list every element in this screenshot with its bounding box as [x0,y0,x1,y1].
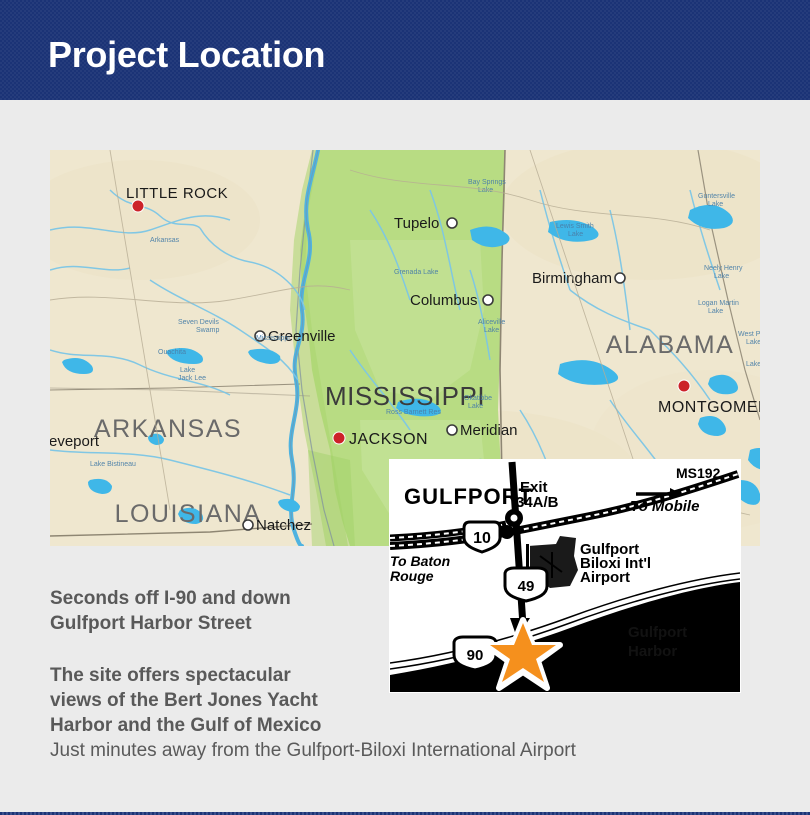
svg-text:Lake Bistineau: Lake Bistineau [90,461,136,468]
caption-paragraph-2: The site offers spectacular views of the… [50,663,750,763]
caption-line-1: Seconds off I-90 and down [50,586,750,611]
svg-text:Natchez: Natchez [256,517,311,534]
svg-text:Mississippi: Mississippi [256,335,290,342]
caption-line-5: Harbor and the Gulf of Mexico [50,713,750,738]
svg-text:Aliceville: Aliceville [478,319,505,326]
svg-text:MS192: MS192 [676,465,721,481]
caption-line-6: Just minutes away from the Gulfport-Bilo… [50,738,750,763]
svg-text:Lake: Lake [484,327,499,334]
svg-text:Ouachita: Ouachita [158,349,186,356]
svg-text:West Point: West Point [738,331,760,338]
svg-text:Ross Barnett Res: Ross Barnett Res [386,409,441,416]
caption-line-4: views of the Bert Jones Yacht [50,688,750,713]
svg-text:Rouge: Rouge [390,568,434,584]
svg-text:LITTLE ROCK: LITTLE ROCK [126,185,228,202]
svg-text:LOUISIANA: LOUISIANA [115,500,262,528]
svg-text:Airport: Airport [580,569,630,586]
svg-text:Lake: Lake [708,308,723,315]
svg-text:Meridian: Meridian [460,422,518,439]
svg-text:Seven Devils: Seven Devils [178,319,219,326]
caption-line-3: The site offers spectacular [50,663,750,688]
svg-text:To Mobile: To Mobile [630,498,699,515]
svg-text:Grenada Lake: Grenada Lake [394,269,438,276]
svg-text:Lewis Smith: Lewis Smith [556,223,594,230]
svg-text:Logan Martin: Logan Martin [698,300,739,307]
page-title: Project Location [48,33,325,77]
svg-text:Swamp: Swamp [196,327,219,334]
svg-text:JACKSON: JACKSON [349,431,428,448]
svg-text:Tupelo: Tupelo [394,215,439,232]
svg-text:To Baton: To Baton [390,553,450,569]
svg-text:MISSISSIPPI: MISSISSIPPI [325,381,485,411]
svg-text:Jack Lee: Jack Lee [178,375,206,382]
svg-text:34A/B: 34A/B [516,494,559,511]
svg-text:reveport: reveport [50,433,100,450]
caption-block: Seconds off I-90 and down Gulfport Harbo… [50,586,750,763]
svg-text:Lake: Lake [746,339,760,346]
slide-project-location: Project Location [0,0,810,815]
svg-text:Bay Springs: Bay Springs [468,179,506,186]
svg-text:ALABAMA: ALABAMA [606,331,735,359]
svg-text:Lake: Lake [180,367,195,374]
svg-text:GULFPORT: GULFPORT [404,484,533,509]
svg-text:Lake: Lake [714,273,729,280]
svg-text:Columbus: Columbus [410,292,478,309]
caption-spacer [50,636,750,663]
svg-text:Guntersville: Guntersville [698,193,735,200]
svg-text:Lake: Lake [708,201,723,208]
header-band: Project Location [0,0,810,100]
svg-text:ARKANSAS: ARKANSAS [94,415,242,443]
svg-text:Lake: Lake [568,231,583,238]
svg-text:10: 10 [473,530,491,547]
svg-text:Lake: Lake [468,403,483,410]
svg-text:MONTGOMERY: MONTGOMERY [658,399,760,416]
svg-text:Okatibbe: Okatibbe [464,395,492,402]
svg-text:Neely Henry: Neely Henry [704,265,743,272]
svg-text:Birmingham: Birmingham [532,270,612,287]
svg-text:Lake Martin: Lake Martin [746,361,760,368]
shield-i10: 10 [464,522,500,552]
svg-text:Arkansas: Arkansas [150,237,180,244]
caption-line-2: Gulfport Harbor Street [50,611,750,636]
